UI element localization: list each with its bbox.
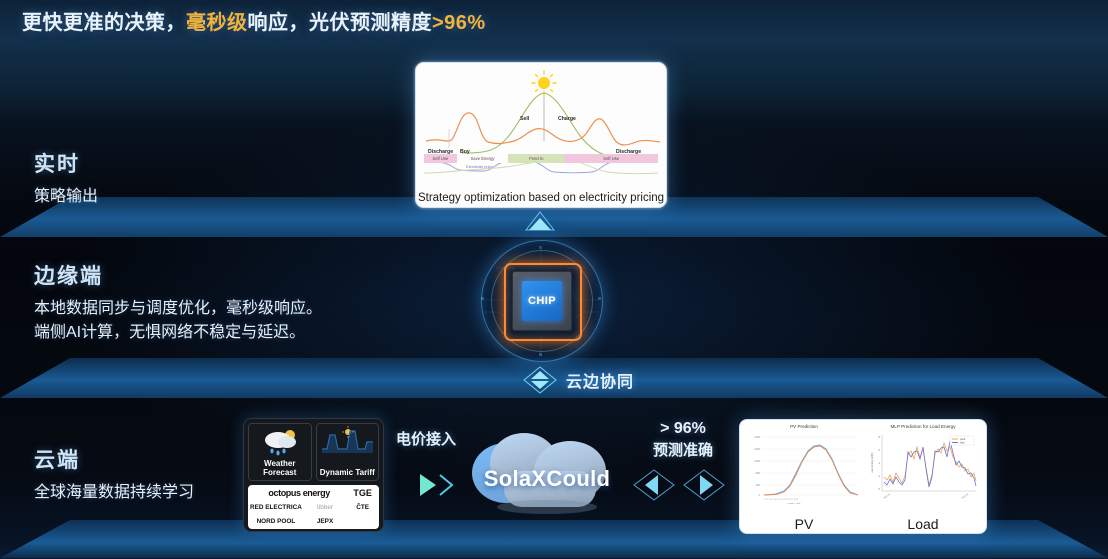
pv-chart-svg: 140012001000 8004000 1 3 5 7 9 11 13 15 … [746,429,862,505]
svg-text:— pred — real: — pred — real [786,502,801,505]
chip-label: CHIP [528,295,556,307]
svg-text:1000: 1000 [754,459,760,463]
svg-text:1400: 1400 [754,435,760,439]
layer-edge-sub-line1: 本地数据同步与调度优化，毫秒级响应。 [34,297,322,321]
layer-label-realtime: 实时 策略输出 [34,148,98,209]
load-chart-ylabel: Load Energy (kWh) [871,452,874,473]
nav-arrows[interactable] [630,466,730,504]
load-footer-label: Load [866,516,980,532]
weather-cloud-rain-icon [258,426,302,458]
logo-octopus-energy: octopus energy [268,488,329,498]
segment-save-energy: Save Energy [457,154,508,163]
layer-edge-sub: 本地数据同步与调度优化，毫秒级响应。 端侧AI计算，无惧网络不稳定与延迟。 [34,297,322,345]
layer-edge-head: 边缘端 [34,260,322,290]
svg-text:1200: 1200 [754,447,760,451]
svg-text:400: 400 [756,483,761,487]
title-part1: 更快更准的决策， [22,12,186,34]
chip-die: CHIP [522,281,562,321]
tariff-curve-icon [319,425,377,455]
logo-jepx: JEPX [317,518,333,525]
partner-logos-grid: octopus energy TGE RED ELECTRICA tibber … [248,485,379,529]
title-accent: >96% [432,12,486,34]
layer-label-edge: 边缘端 本地数据同步与调度优化，毫秒级响应。 端侧AI计算，无惧网络不稳定与延迟… [34,260,322,345]
accuracy-label: 预测准确 [636,439,730,460]
svg-text:800: 800 [756,471,761,475]
accuracy-block: > 96% 预测准确 [636,420,730,460]
arrow-up-icon[interactable] [524,210,556,232]
pv-prediction-chart: PV Prediction 140012001000 8004000 1 3 5… [746,424,862,512]
strategy-caption: Strategy optimization based on electrici… [416,192,666,204]
title-part2: 响应，光伏预测精度 [248,12,433,34]
edge-chip-graphic: CHIP [470,238,612,364]
slide-root: 更快更准的决策，毫秒级响应，光伏预测精度>96% 实时 策略输出 边缘端 本地数… [0,0,1108,559]
svg-text:4: 4 [879,461,881,465]
layer-realtime-head: 实时 [34,148,98,178]
svg-text:2020-01: 2020-01 [883,493,891,500]
strategy-chart: Discharge Buy Sell Charge Discharge Elec… [416,63,666,207]
logo-red-electrica: RED ELECTRICA [250,504,302,511]
flow-arrow-right-icon[interactable] [414,468,464,502]
strategy-segment-bar: Self Use Save Energy Feed In Self Use [424,176,658,185]
segment-feed-in: Feed In [508,154,564,163]
layer-cloud-sub: 全球海量数据持续学习 [34,481,194,505]
layer-cloud-head: 云端 [34,444,194,474]
weather-forecast-label: Weather Forecast [249,459,311,477]
load-prediction-chart: MLP Prediction for Load Energy 86 420 Lo… [866,424,980,512]
svg-text:1 3 5 7 9 11 13 15 17 19 21 23: 1 3 5 7 9 11 13 15 17 19 21 23 25 27 29 … [764,499,798,501]
dynamic-tariff-label: Dynamic Tariff [320,468,375,477]
tariff-input-label: 电价接入 [396,428,456,449]
data-sources-panel[interactable]: Weather Forecast Dynamic Tariff octopus … [243,418,384,532]
logo-nord-pool: NORD POOL [257,518,296,525]
segment-self-use-1: Self Use [424,154,457,163]
svg-text:2: 2 [879,474,881,478]
page-title: 更快更准的决策，毫秒级响应，光伏预测精度>96% [22,6,486,35]
cloud-edge-sync-label: 云边协同 [566,368,634,392]
cloud-graphic[interactable]: SolaXCould [466,421,628,527]
svg-text:0: 0 [759,493,761,497]
logo-tibber: tibber [317,504,333,511]
label-sell: Sell [520,116,530,122]
arrow-right-icon [684,470,724,500]
segment-self-use-2: Self Use [564,154,658,163]
weather-forecast-cell[interactable]: Weather Forecast [248,423,312,481]
dynamic-tariff-cell[interactable]: Dynamic Tariff [316,423,380,481]
load-legend-real: real [960,441,965,445]
load-chart-svg: 86 420 Load Energy (kWh) 2020-01 2020-05… [866,429,980,507]
svg-text:6: 6 [879,448,881,452]
pv-footer-label: PV [746,516,862,532]
svg-text:2020-05: 2020-05 [961,493,969,500]
logo-cte: ČTE [356,504,369,511]
accuracy-value: > 96% [636,420,730,438]
prediction-card[interactable]: PV Prediction 140012001000 8004000 1 3 5… [739,419,987,534]
svg-text:8: 8 [879,435,881,439]
load-legend-pred: pred [960,437,966,441]
layer-label-cloud: 云端 全球海量数据持续学习 [34,444,194,505]
label-charge: Charge [558,116,576,122]
logo-tge: TGE [353,488,372,498]
layer-edge-sub-line2: 端侧AI计算，无惧网络不稳定与延迟。 [34,321,322,345]
chip-body: CHIP [512,271,572,331]
arrow-left-icon [634,470,674,500]
cloud-label: SolaXCould [466,466,628,492]
title-highlight: 毫秒级 [186,12,248,34]
strategy-optimization-card[interactable]: Discharge Buy Sell Charge Discharge Elec… [415,62,667,208]
svg-text:0: 0 [879,487,881,491]
cloud-edge-sync-icon[interactable] [523,366,557,394]
layer-realtime-sub: 策略输出 [34,185,98,209]
